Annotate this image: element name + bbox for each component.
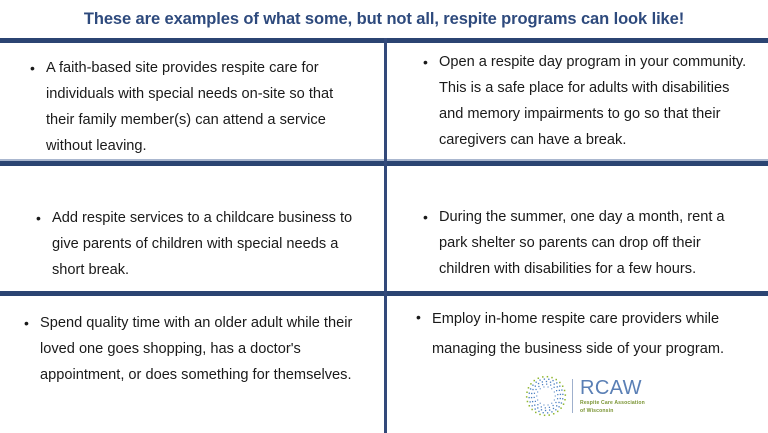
list-item: During the summer, one day a month, rent… bbox=[423, 204, 743, 282]
table-cell-row2-right: During the summer, one day a month, rent… bbox=[387, 166, 768, 291]
examples-table: A faith-based site provides respite care… bbox=[0, 38, 768, 433]
table-cell-textbox: Spend quality time with an older adult w… bbox=[24, 310, 374, 388]
slide-title-bar: These are examples of what some, but not… bbox=[0, 0, 768, 38]
logo-divider bbox=[572, 379, 573, 413]
table-cell-textbox: Employ in-home respite care providers wh… bbox=[416, 304, 759, 364]
page-title: These are examples of what some, but not… bbox=[84, 10, 684, 29]
table-cell-textbox: Open a respite day program in your commu… bbox=[423, 49, 749, 153]
radial-dot-mandala-icon bbox=[524, 374, 568, 418]
slide: These are examples of what some, but not… bbox=[0, 0, 768, 433]
table-cell-textbox: During the summer, one day a month, rent… bbox=[423, 204, 743, 282]
table-cell-row3-left: Spend quality time with an older adult w… bbox=[0, 296, 384, 433]
logo-wordmark: RCAW bbox=[580, 378, 645, 398]
bullet-list: Add respite services to a childcare busi… bbox=[36, 205, 358, 283]
bullet-list: A faith-based site provides respite care… bbox=[30, 55, 348, 159]
bullet-list: Employ in-home respite care providers wh… bbox=[416, 304, 759, 364]
table-cell-textbox: Add respite services to a childcare busi… bbox=[36, 205, 358, 283]
rcaw-logo: RCAW Respite Care Association of Wiscons… bbox=[524, 373, 652, 419]
bullet-list: Spend quality time with an older adult w… bbox=[24, 310, 374, 388]
list-item: Add respite services to a childcare busi… bbox=[36, 205, 358, 283]
table-cell-row2-left: Add respite services to a childcare busi… bbox=[0, 166, 384, 291]
bullet-list: Open a respite day program in your commu… bbox=[423, 49, 749, 153]
table-cell-row1-right: Open a respite day program in your commu… bbox=[387, 43, 768, 159]
bullet-list: During the summer, one day a month, rent… bbox=[423, 204, 743, 282]
table-cell-textbox: A faith-based site provides respite care… bbox=[30, 55, 348, 159]
list-item: Open a respite day program in your commu… bbox=[423, 49, 749, 153]
list-item: A faith-based site provides respite care… bbox=[30, 55, 348, 159]
table-cell-row3-right: Employ in-home respite care providers wh… bbox=[387, 296, 768, 433]
logo-wordmark-group: RCAW Respite Care Association of Wiscons… bbox=[580, 378, 645, 415]
table-cell-row1-left: A faith-based site provides respite care… bbox=[0, 43, 384, 159]
logo-tagline-line1: Respite Care Association bbox=[580, 400, 645, 406]
list-item: Employ in-home respite care providers wh… bbox=[416, 304, 759, 364]
logo-tagline-line2: of Wisconsin bbox=[580, 408, 645, 414]
list-item: Spend quality time with an older adult w… bbox=[24, 310, 374, 388]
